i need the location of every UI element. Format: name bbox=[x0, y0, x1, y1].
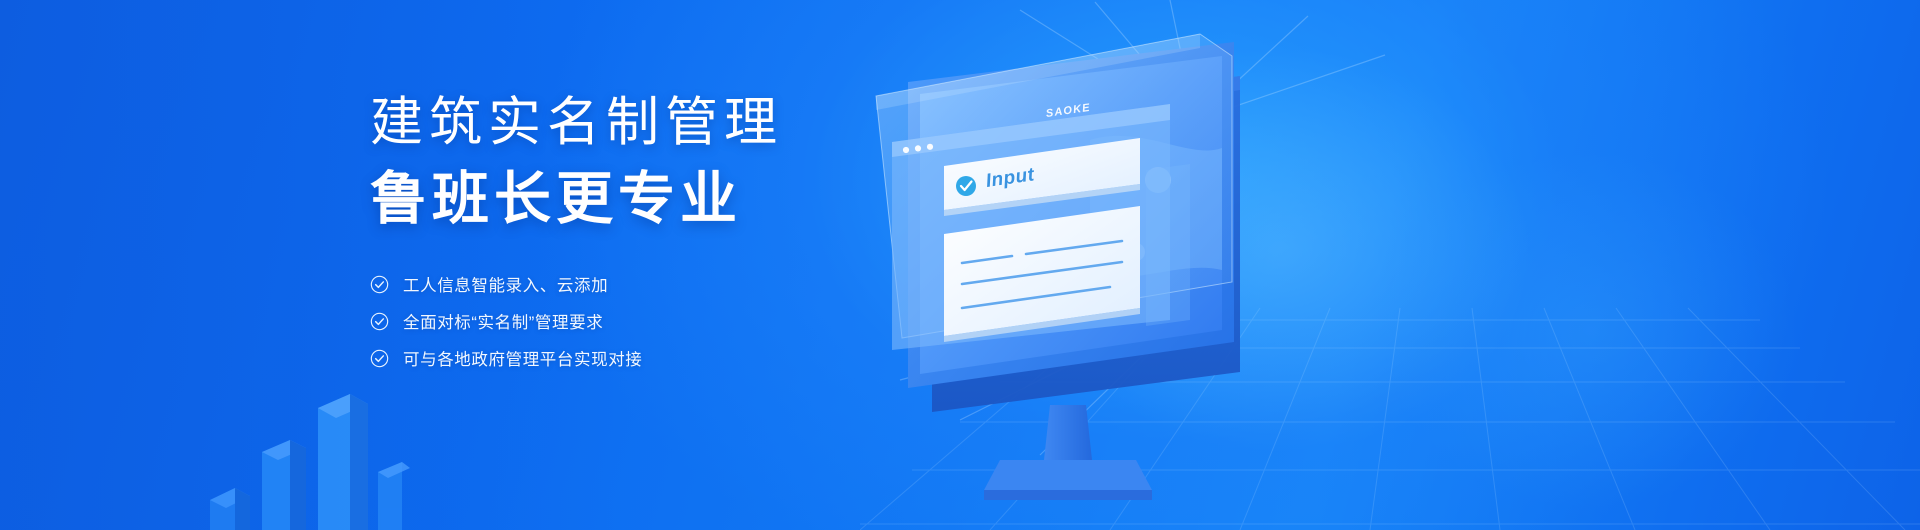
monitor-stand bbox=[984, 405, 1152, 500]
monitor-illustration: Input SAOKE bbox=[840, 20, 1580, 530]
promo-banner: 建筑实名制管理 鲁班长更专业 工人信息智能录入、云添加 全面对标“实名制”管理要… bbox=[0, 0, 1920, 530]
headline-secondary: 鲁班长更专业 bbox=[370, 171, 800, 228]
check-circle-icon bbox=[370, 275, 389, 294]
feature-bullet-text: 全面对标“实名制”管理要求 bbox=[403, 309, 603, 333]
card-depth-shadow bbox=[1146, 164, 1190, 326]
check-circle-icon bbox=[370, 312, 389, 331]
feature-bullet-text: 可与各地政府管理平台实现对接 bbox=[403, 346, 642, 370]
feature-bullet-item: 工人信息智能录入、云添加 bbox=[370, 272, 800, 296]
monitor-illustration-svg bbox=[840, 20, 1580, 530]
feature-bullet-text: 工人信息智能录入、云添加 bbox=[403, 272, 608, 296]
feature-bullet-item: 全面对标“实名制”管理要求 bbox=[370, 309, 800, 333]
headline-primary: 建筑实名制管理 bbox=[370, 96, 800, 149]
feature-bullet-list: 工人信息智能录入、云添加 全面对标“实名制”管理要求 可与各地政府管理平台实现对… bbox=[370, 272, 800, 370]
check-circle-icon bbox=[370, 349, 389, 368]
banner-copy: 建筑实名制管理 鲁班长更专业 工人信息智能录入、云添加 全面对标“实名制”管理要… bbox=[370, 96, 800, 370]
check-circle-filled-icon bbox=[956, 176, 976, 196]
feature-bullet-item: 可与各地政府管理平台实现对接 bbox=[370, 346, 800, 370]
